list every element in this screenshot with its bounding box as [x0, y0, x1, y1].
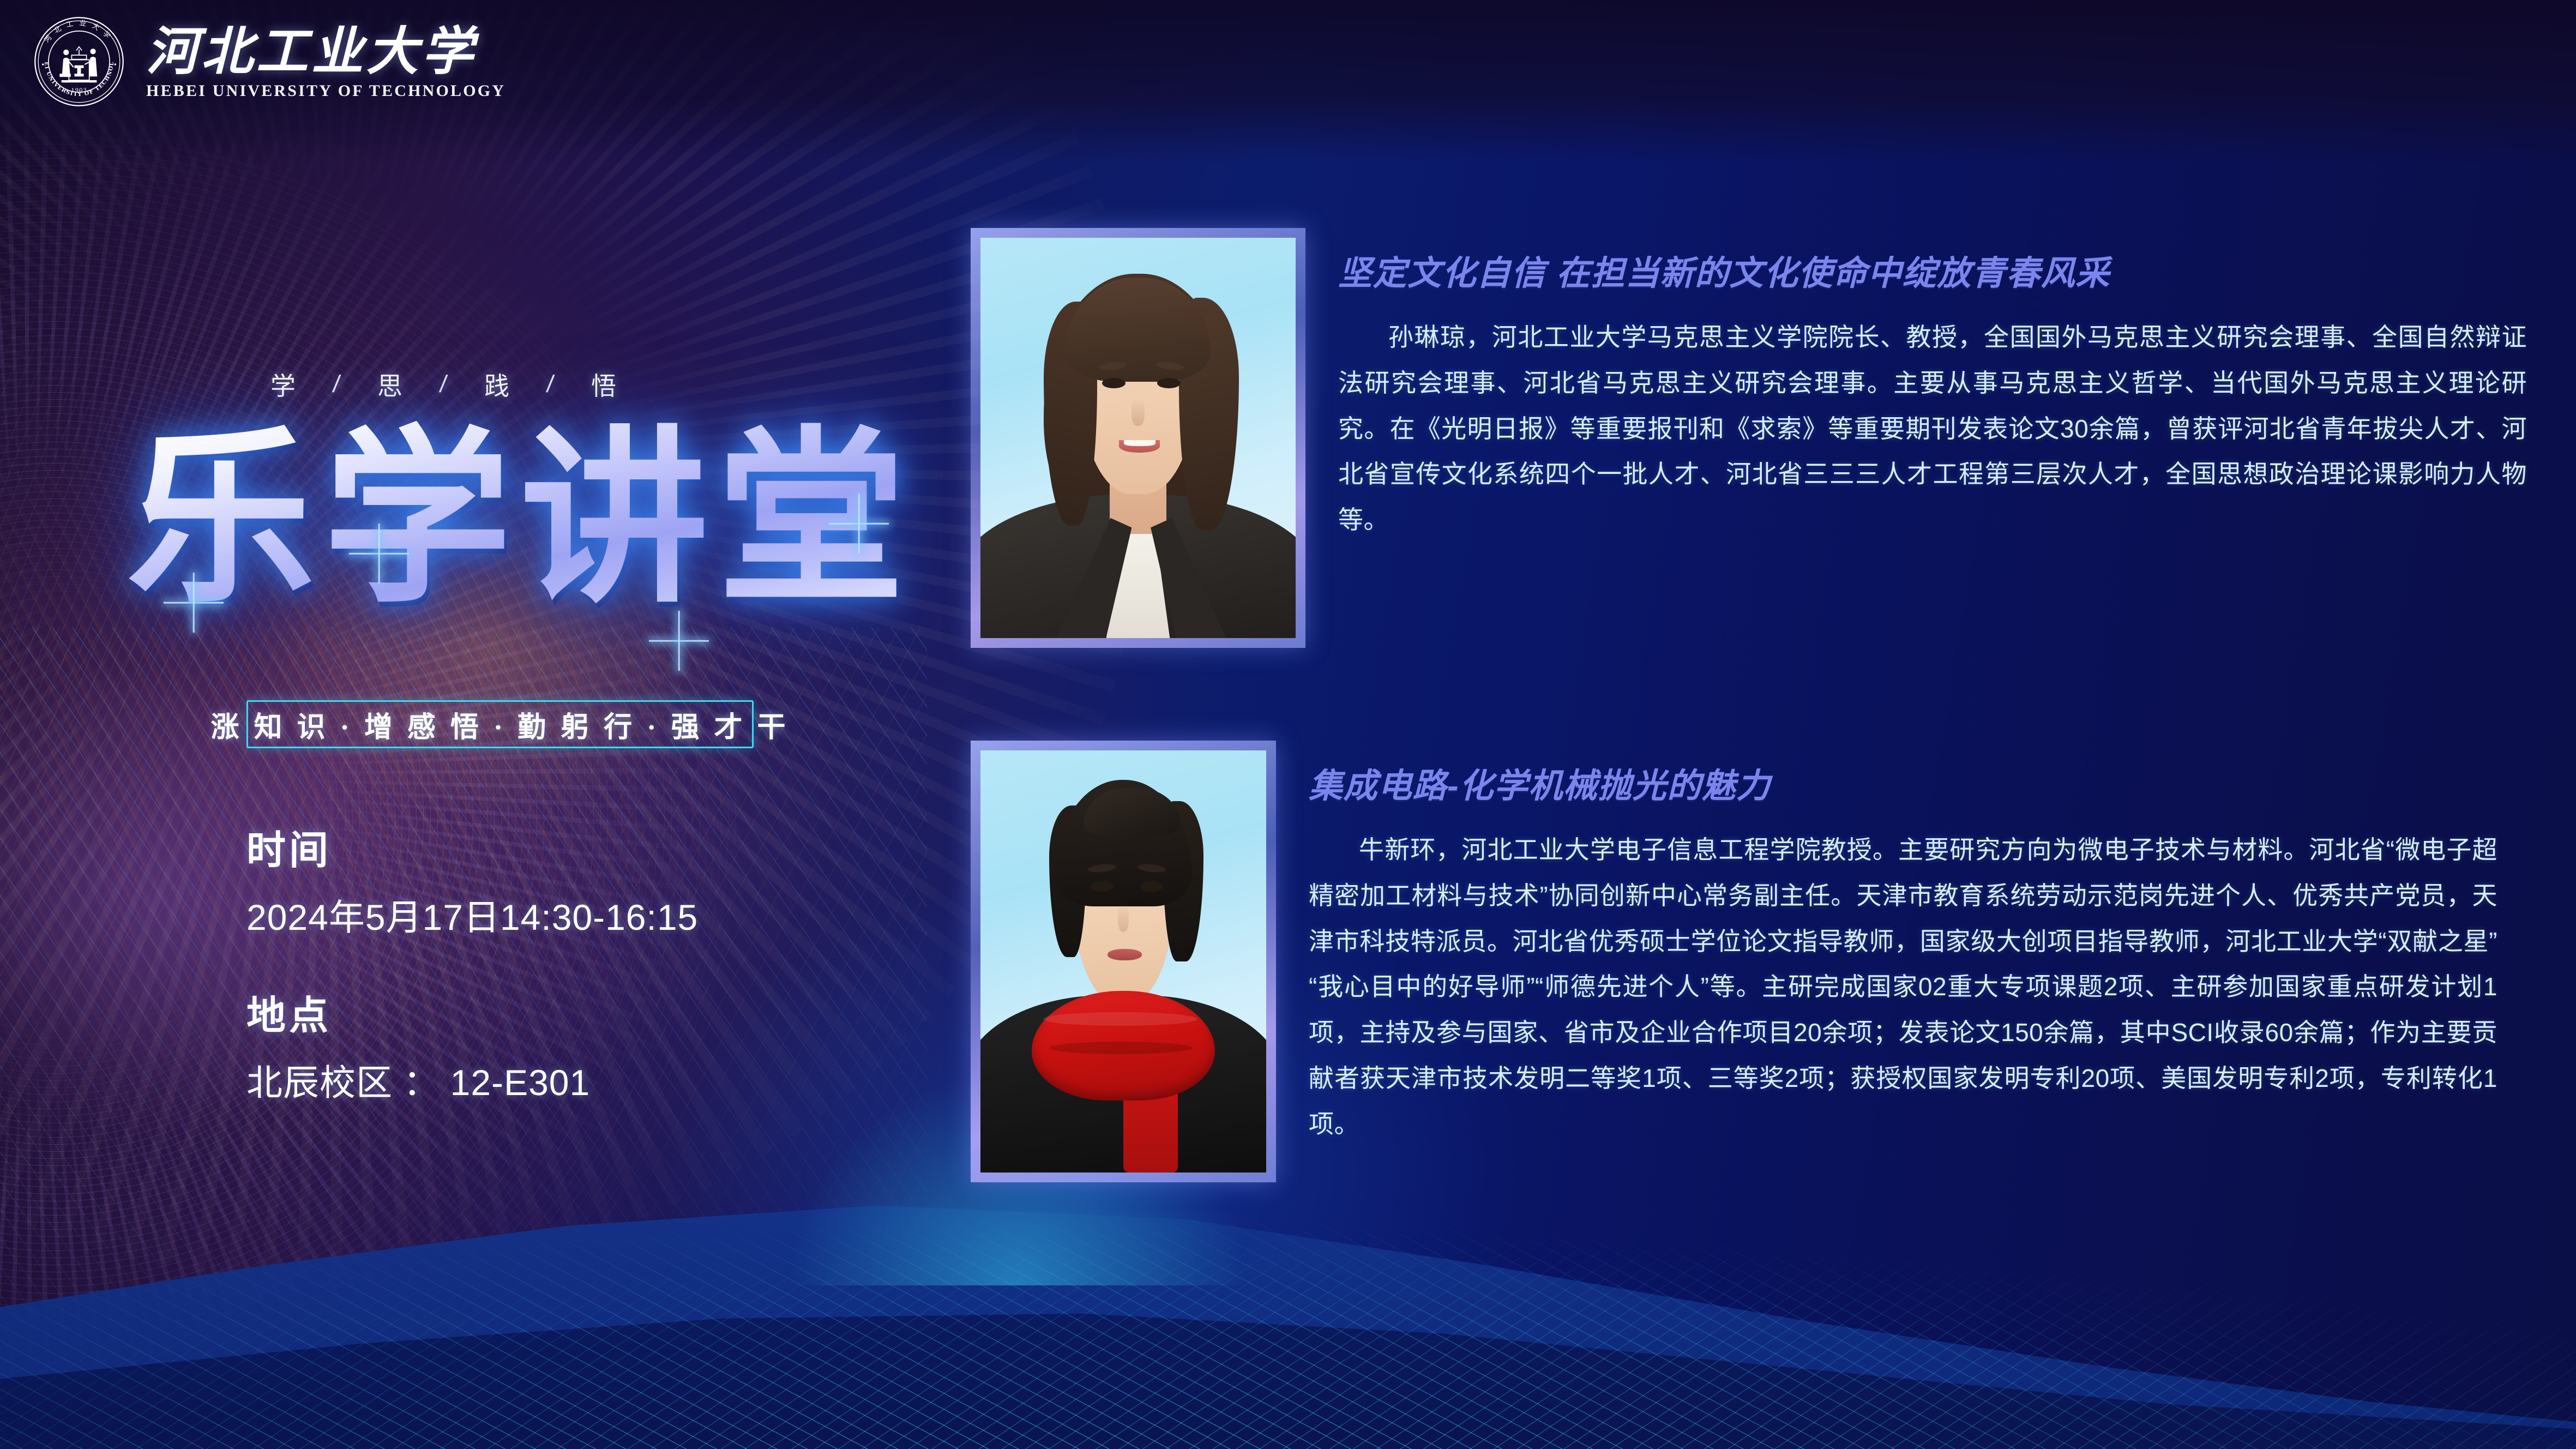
right-panel: 坚定文化自信 在担当新的文化使命中绽放青春风采 孙琳琼，河北工业大学马克思主义学…	[971, 0, 2576, 1449]
portrait1-eye-left	[1102, 378, 1126, 388]
speaker-photo-frame-1	[971, 228, 1305, 648]
portrait2-scarf-fold-1	[1043, 1012, 1197, 1026]
speaker-text-block-1: 坚定文化自信 在担当新的文化使命中绽放青春风采 孙琳琼，河北工业大学马克思主义学…	[1338, 228, 2527, 543]
university-brand: 河北工业大学 HEBEI UNIVERSITY OF TECHNOLOGY —1…	[33, 15, 505, 108]
place-value: 北辰校区 ： 12-E301	[246, 1054, 698, 1106]
left-panel: 学 / 思 / 践 / 悟 乐学讲堂 涨 知 识 · 增 感 悟 · 勤 躬 行…	[0, 0, 954, 1449]
speaker-heading-2: 集成电路-化学机械抛光的魅力	[1309, 767, 2497, 805]
speaker-bio-2: 牛新环，河北工业大学电子信息工程学院教授。主要研究方向为微电子技术与材料。河北省…	[1309, 827, 2497, 1147]
svg-text:河北工业大学: 河北工业大学	[43, 19, 116, 45]
tagline-char-3: 践	[462, 366, 533, 402]
portrait1-eye-right	[1157, 378, 1181, 388]
tagline-separator-2: /	[424, 371, 464, 398]
time-label: 时间	[246, 818, 698, 875]
poster-canvas: 河北工业大学 HEBEI UNIVERSITY OF TECHNOLOGY —1…	[0, 0, 2576, 1449]
university-seal-icon: 河北工业大学 HEBEI UNIVERSITY OF TECHNOLOGY —1…	[33, 15, 125, 108]
tagline-separator-3: /	[531, 371, 570, 398]
poster-main-title: 乐学讲堂	[127, 421, 914, 618]
tagline-separator-1: /	[317, 371, 357, 398]
speaker-bio-1: 孙琳琼，河北工业大学马克思主义学院院长、教授，全国国外马克思主义研究会理事、全国…	[1338, 315, 2527, 543]
motto-box: 涨 知 识 · 增 感 悟 · 勤 躬 行 · 强 才 干	[246, 700, 754, 748]
brand-text-block: 河北工业大学 HEBEI UNIVERSITY OF TECHNOLOGY	[146, 23, 505, 100]
event-info-block: 时间 2024年5月17日14:30-16:15 地点 北辰校区 ： 12-E3…	[246, 818, 698, 1106]
speaker-entry-1: 坚定文化自信 在担当新的文化使命中绽放青春风采 孙琳琼，河北工业大学马克思主义学…	[971, 228, 2527, 648]
speaker-entry-2: 集成电路-化学机械抛光的魅力 牛新环，河北工业大学电子信息工程学院教授。主要研究…	[971, 741, 2497, 1182]
university-name-cn: 河北工业大学	[146, 25, 505, 80]
svg-text:—1903—: —1903—	[65, 88, 93, 94]
portrait2-nose	[1118, 903, 1129, 932]
speaker-text-block-2: 集成电路-化学机械抛光的魅力 牛新环，河北工业大学电子信息工程学院教授。主要研究…	[1309, 741, 2497, 1147]
tagline-char-2: 思	[355, 366, 426, 402]
portrait1-teeth	[1124, 440, 1155, 446]
info-spacer	[246, 941, 698, 983]
motto-text: 涨 知 识 · 增 感 悟 · 勤 躬 行 · 强 才 干	[210, 704, 789, 745]
time-value: 2024年5月17日14:30-16:15	[246, 888, 698, 941]
speaker-photo-frame-2	[971, 741, 1276, 1182]
tagline-char-1: 学	[248, 366, 319, 402]
tagline-row: 学 / 思 / 践 / 悟	[248, 366, 640, 402]
speaker-heading-1: 坚定文化自信 在担当新的文化使命中绽放青春风采	[1338, 254, 2527, 293]
university-name-en: HEBEI UNIVERSITY OF TECHNOLOGY	[146, 82, 505, 100]
speaker-portrait-1	[980, 238, 1296, 638]
place-label: 地点	[246, 983, 698, 1041]
portrait2-eye-left	[1091, 881, 1114, 892]
speaker-portrait-2	[980, 750, 1266, 1173]
portrait1-nose	[1131, 398, 1144, 426]
portrait2-mouth	[1108, 949, 1142, 961]
tagline-char-4: 悟	[569, 366, 640, 402]
